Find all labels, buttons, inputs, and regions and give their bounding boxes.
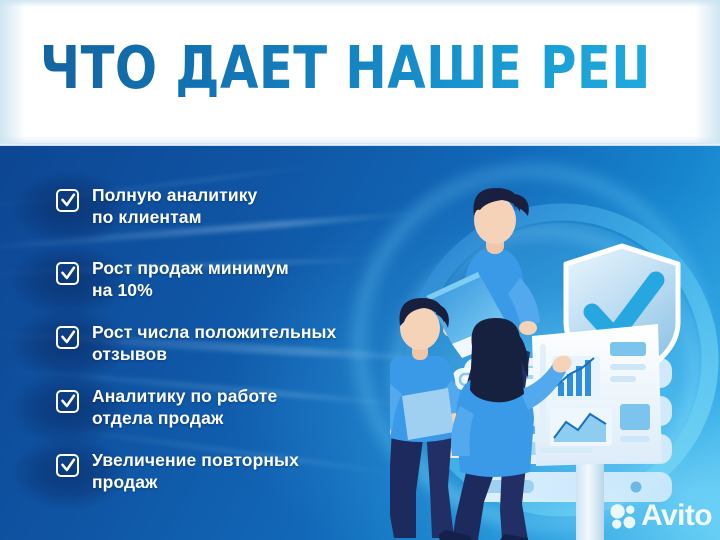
poster-body: Полную аналитику по клиентам Рост продаж… [0, 146, 720, 540]
checklist-item-label: Увеличение повторных продаж [92, 449, 299, 493]
avito-wordmark: Avito [641, 501, 712, 531]
checklist-item[interactable]: Увеличение повторных продаж [56, 449, 299, 493]
page-title: ЧТО ДАЕТ НАШЕ РЕШЕНИЕ [40, 33, 646, 103]
checklist-item-label: Аналитику по работе отдела продаж [92, 385, 277, 429]
avito-watermark: Avito [610, 498, 712, 534]
benefits-checklist: Полную аналитику по клиентам Рост продаж… [0, 146, 440, 540]
checklist-item-label: Рост числа положительных отзывов [92, 321, 336, 365]
checklist-item-label: Рост продаж минимум на 10% [92, 257, 289, 301]
promo-poster: ЧТО ДАЕТ НАШЕ РЕШЕНИЕ [0, 0, 720, 540]
checklist-item[interactable]: Аналитику по работе отдела продаж [56, 385, 277, 429]
checklist-item[interactable]: Полную аналитику по клиентам [56, 184, 257, 228]
checkbox-checked-icon[interactable] [56, 189, 79, 212]
checklist-item[interactable]: Рост продаж минимум на 10% [56, 257, 289, 301]
checklist-item[interactable]: Рост числа положительных отзывов [56, 321, 336, 365]
checkbox-checked-icon[interactable] [56, 454, 79, 477]
avito-dots-logo-icon [610, 503, 637, 530]
checkbox-checked-icon[interactable] [56, 390, 79, 413]
checklist-item-label: Полную аналитику по клиентам [92, 184, 257, 228]
checkbox-checked-icon[interactable] [56, 326, 79, 349]
checkbox-checked-icon[interactable] [56, 262, 79, 285]
poster-header: ЧТО ДАЕТ НАШЕ РЕШЕНИЕ [0, 0, 720, 146]
